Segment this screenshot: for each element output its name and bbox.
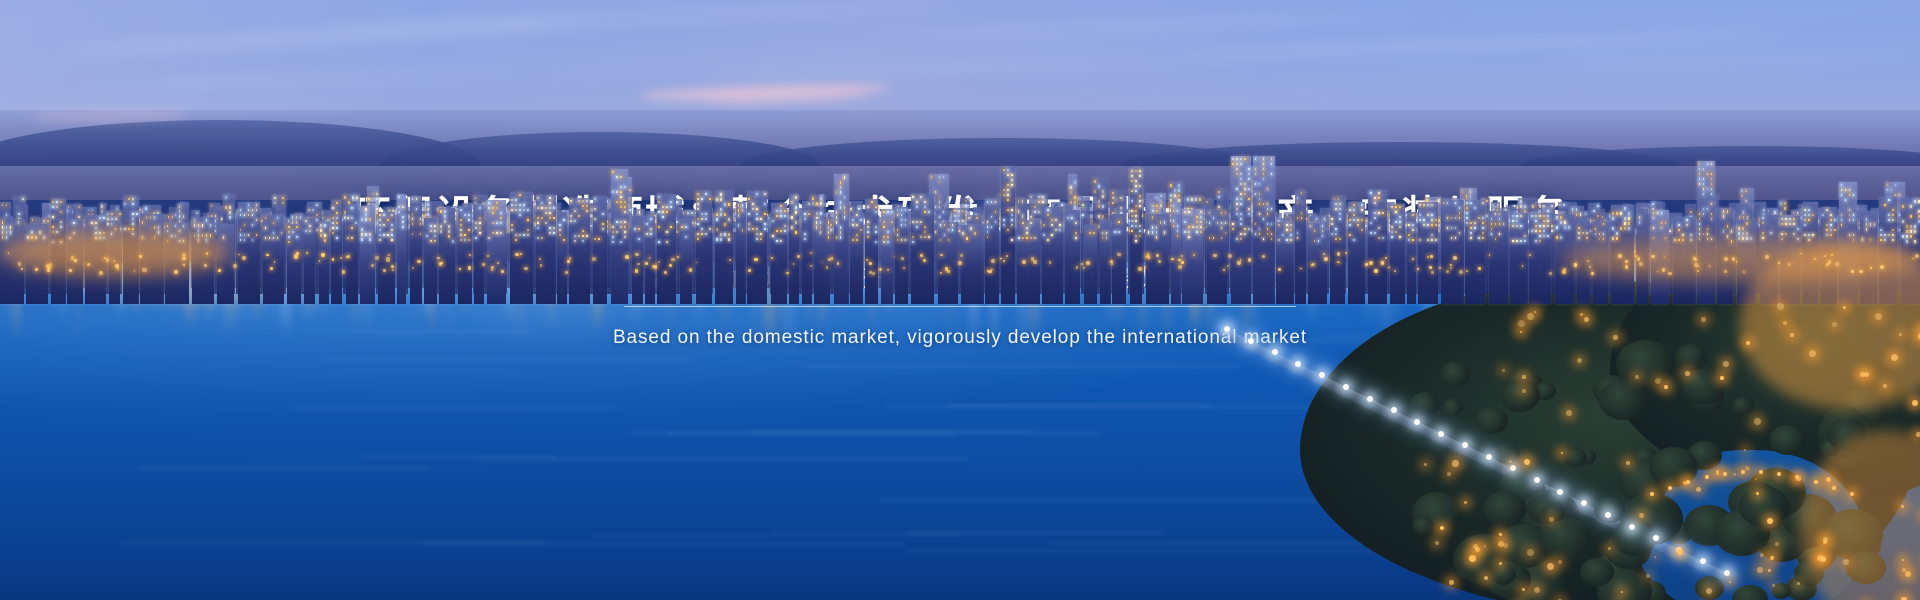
building-window — [320, 234, 322, 236]
building-window — [1102, 195, 1104, 197]
building-window — [124, 228, 126, 230]
building-window — [256, 234, 258, 236]
building-window — [1482, 217, 1484, 219]
building-window — [1770, 232, 1772, 234]
building-window — [1470, 227, 1472, 229]
building-window — [1335, 233, 1337, 235]
building-window — [1910, 230, 1912, 232]
building-window — [578, 200, 580, 202]
building-window — [1255, 173, 1257, 175]
building-window — [541, 217, 543, 219]
building — [715, 191, 734, 304]
building-window — [716, 218, 718, 220]
building-window — [578, 235, 580, 237]
building-window — [1003, 194, 1005, 196]
building-window — [1089, 232, 1091, 234]
building-window — [940, 239, 942, 241]
shoreline-light — [1081, 263, 1083, 265]
building-window — [1599, 233, 1601, 235]
building-window — [183, 225, 185, 227]
building-window — [56, 231, 58, 233]
building-window — [1808, 239, 1810, 241]
building-window — [379, 224, 381, 226]
building-window — [332, 227, 334, 229]
shoreline-light — [1651, 255, 1655, 259]
building-window — [52, 201, 54, 203]
building-window — [464, 234, 466, 236]
building — [1017, 220, 1041, 304]
building-window — [1003, 169, 1005, 171]
tree-canopy — [1483, 491, 1526, 526]
building-window — [1661, 212, 1663, 214]
building-window — [697, 218, 699, 220]
promenade-lamp — [1462, 442, 1468, 448]
building-window — [511, 209, 513, 211]
building-window — [1895, 184, 1897, 186]
building-window — [1156, 205, 1158, 207]
building-window — [1156, 210, 1158, 212]
building-window — [1699, 168, 1701, 170]
building-window — [1543, 225, 1545, 227]
building-window — [820, 202, 822, 204]
building-window — [1880, 234, 1882, 236]
building-window — [1131, 225, 1133, 227]
park-light — [1864, 372, 1869, 377]
building-window — [875, 231, 877, 233]
building-window — [553, 207, 555, 209]
building-window — [1560, 236, 1562, 238]
building-window — [905, 224, 907, 226]
building-window — [1353, 204, 1355, 206]
building-window — [1466, 195, 1468, 197]
park-light — [1522, 588, 1525, 591]
building-window — [1547, 220, 1549, 222]
building-window — [1156, 226, 1158, 228]
building-window — [511, 199, 513, 201]
building-window — [324, 239, 326, 241]
building — [287, 224, 302, 304]
building-window — [1412, 224, 1414, 226]
building-window — [1286, 239, 1288, 241]
building — [611, 169, 629, 304]
building-window — [1520, 240, 1522, 242]
building-window — [1334, 198, 1336, 200]
building-window — [1074, 181, 1076, 183]
building-window — [991, 226, 993, 228]
building — [1084, 225, 1097, 304]
park-light — [1706, 588, 1712, 594]
building-window — [47, 220, 49, 222]
building-window — [1535, 225, 1537, 227]
building-window — [1408, 239, 1410, 241]
building-window — [804, 218, 806, 220]
building-window — [1196, 221, 1198, 223]
building — [1171, 203, 1181, 304]
building-window — [1797, 238, 1799, 240]
building-window — [39, 231, 41, 233]
building-window — [1353, 209, 1355, 211]
building-window — [1699, 183, 1701, 185]
building-window — [1845, 189, 1847, 191]
park-light — [1440, 526, 1444, 530]
building-window — [1120, 207, 1122, 209]
building-window — [1880, 239, 1882, 241]
building-window — [196, 212, 198, 214]
building-window — [1539, 235, 1541, 237]
building-window — [1808, 214, 1810, 216]
building-window — [1576, 213, 1578, 215]
building-window — [1447, 217, 1449, 219]
building-window — [816, 221, 818, 223]
building-window — [460, 234, 462, 236]
building-window — [1841, 214, 1843, 216]
building-window — [820, 221, 822, 223]
shoreline-light — [625, 255, 629, 259]
tree-canopy — [1580, 558, 1614, 586]
building-window — [844, 216, 846, 218]
building-window — [738, 209, 740, 211]
park-light — [1777, 303, 1784, 310]
building-window — [202, 234, 204, 236]
building-window — [804, 238, 806, 240]
building-window — [697, 223, 699, 225]
building-window — [705, 233, 707, 235]
shoreline-light — [1156, 254, 1159, 257]
building-window — [1196, 231, 1198, 233]
building-window — [1007, 229, 1009, 231]
building-window — [1699, 223, 1701, 225]
building — [1510, 213, 1528, 305]
building-window — [791, 216, 793, 218]
building-window — [887, 241, 889, 243]
wave-hint — [948, 405, 1211, 407]
building-window — [1711, 183, 1713, 185]
building-window — [1349, 234, 1351, 236]
building-window — [1582, 232, 1584, 234]
building-window — [365, 218, 367, 220]
building-window — [697, 193, 699, 195]
building-window — [444, 210, 446, 212]
building-window — [1887, 184, 1889, 186]
building-window — [154, 216, 156, 218]
building — [474, 205, 484, 304]
building-window — [738, 214, 740, 216]
building — [263, 215, 284, 304]
building-window — [574, 210, 576, 212]
building-window — [828, 236, 830, 238]
building-window — [1135, 205, 1137, 207]
building-window — [1466, 222, 1468, 224]
building-window — [448, 235, 450, 237]
building-window — [948, 239, 950, 241]
building-window — [1826, 209, 1828, 211]
building-window — [460, 239, 462, 241]
building-window — [901, 219, 903, 221]
building-window — [1070, 186, 1072, 188]
shoreline-light — [1625, 265, 1629, 269]
shoreline-light — [1635, 255, 1637, 257]
building-window — [1374, 232, 1376, 234]
building-window — [578, 215, 580, 217]
building-window — [1026, 227, 1028, 229]
building-window — [856, 239, 858, 241]
building — [569, 198, 590, 304]
shoreline-light — [940, 254, 942, 256]
building-window — [1892, 214, 1894, 216]
building-window — [1106, 232, 1108, 234]
building-window — [361, 238, 363, 240]
building-window — [1225, 222, 1227, 224]
building-window — [891, 221, 893, 223]
building-window — [365, 208, 367, 210]
building-window — [101, 210, 103, 212]
building-window — [206, 219, 208, 221]
building-window — [368, 203, 370, 205]
building-window — [1620, 212, 1622, 214]
building-window — [475, 237, 477, 239]
park-light — [1723, 361, 1729, 367]
building-window — [1612, 237, 1614, 239]
building-window — [167, 225, 169, 227]
building-window — [1711, 203, 1713, 205]
building-window — [537, 207, 539, 209]
building-window — [60, 226, 62, 228]
building-window — [1236, 158, 1238, 160]
building-window — [1200, 211, 1202, 213]
building-window — [1240, 223, 1242, 225]
building-window — [780, 240, 782, 242]
building-window — [1884, 204, 1886, 206]
building-window — [795, 206, 797, 208]
building-window — [1586, 237, 1588, 239]
building-window — [175, 235, 177, 237]
building-window — [1188, 236, 1190, 238]
building-window — [987, 201, 989, 203]
building — [1673, 217, 1696, 304]
building-window — [1703, 193, 1705, 195]
building-window — [248, 209, 250, 211]
building-window — [1906, 225, 1908, 227]
building-window — [1723, 230, 1725, 232]
shoreline-light — [1639, 262, 1643, 266]
building-window — [883, 241, 885, 243]
park-light — [1424, 463, 1427, 466]
shoreline-light — [1300, 268, 1302, 270]
building-window — [1586, 232, 1588, 234]
building-window — [1011, 179, 1013, 181]
building-window — [650, 228, 652, 230]
building-window — [620, 201, 622, 203]
building-window — [629, 209, 631, 211]
building-window — [901, 239, 903, 241]
building-window — [582, 205, 584, 207]
building-window — [351, 227, 353, 229]
building-window — [1114, 231, 1116, 233]
building-window — [697, 233, 699, 235]
tree-canopy — [1594, 497, 1625, 523]
park-light — [1549, 517, 1554, 522]
building-window — [1135, 240, 1137, 242]
building-window — [305, 220, 307, 222]
building-window — [1580, 213, 1582, 215]
building-window — [1361, 219, 1363, 221]
building-window — [336, 212, 338, 214]
footbridge-light — [1741, 470, 1745, 474]
building-window — [1699, 233, 1701, 235]
building-window — [697, 208, 699, 210]
building-window — [1297, 197, 1299, 199]
shoreline-light — [74, 259, 77, 262]
building — [304, 218, 316, 304]
shoreline-light — [1181, 261, 1183, 263]
building — [439, 208, 455, 304]
building-window — [602, 213, 604, 215]
building-window — [332, 217, 334, 219]
promenade-lamp — [1414, 419, 1420, 425]
building-window — [1338, 198, 1340, 200]
building-window — [616, 176, 618, 178]
building-window — [812, 197, 814, 199]
building-window — [1160, 205, 1162, 207]
building-window — [475, 197, 477, 199]
building-window — [1236, 173, 1238, 175]
building-window — [1263, 158, 1265, 160]
building-window — [970, 227, 972, 229]
building-window — [795, 221, 797, 223]
building-window — [1318, 240, 1320, 242]
building-window — [756, 208, 758, 210]
footbridge-light — [1832, 486, 1836, 490]
building-window — [935, 221, 937, 223]
building-window — [1331, 218, 1333, 220]
building-window — [752, 203, 754, 205]
building-window — [1653, 237, 1655, 239]
building-window — [965, 200, 967, 202]
building-window — [1431, 204, 1433, 206]
building-window — [1516, 240, 1518, 242]
building-window — [1595, 233, 1597, 235]
building-window — [10, 226, 12, 228]
building-window — [691, 212, 693, 214]
building-window — [1499, 218, 1501, 220]
building-window — [1482, 232, 1484, 234]
building — [1348, 202, 1365, 304]
building-window — [1074, 206, 1076, 208]
building-window — [905, 219, 907, 221]
building-window — [1914, 225, 1916, 227]
park-light — [1809, 350, 1816, 357]
wave-hint — [290, 407, 615, 409]
building-window — [646, 223, 648, 225]
building-window — [1746, 237, 1748, 239]
building-window — [347, 217, 349, 219]
building-window — [1914, 240, 1916, 242]
building-window — [1324, 218, 1326, 220]
building-window — [1206, 201, 1208, 203]
shoreline-light — [1147, 255, 1150, 258]
building-window — [1051, 219, 1053, 221]
building-window — [764, 213, 766, 215]
building-window — [256, 204, 258, 206]
shoreline-light — [1248, 258, 1251, 261]
building-window — [1535, 220, 1537, 222]
building-window — [760, 218, 762, 220]
building-window — [545, 212, 547, 214]
building-window — [943, 211, 945, 213]
building-window — [215, 220, 217, 222]
building-window — [1255, 183, 1257, 185]
tree-canopy — [1500, 379, 1540, 412]
building-window — [1139, 170, 1141, 172]
building-window — [748, 223, 750, 225]
building-window — [1152, 231, 1154, 233]
building-window — [1834, 219, 1836, 221]
building-window — [1051, 234, 1053, 236]
building — [1065, 210, 1079, 304]
building — [747, 191, 767, 304]
building-window — [387, 219, 389, 221]
building-window — [1322, 225, 1324, 227]
building — [696, 191, 713, 304]
building-window — [1007, 174, 1009, 176]
building-window — [1192, 226, 1194, 228]
building-window — [128, 198, 130, 200]
building-window — [179, 215, 181, 217]
building-window — [1482, 222, 1484, 224]
building-window — [1793, 223, 1795, 225]
building-window — [1539, 225, 1541, 227]
building-window — [372, 203, 374, 205]
building-window — [1686, 224, 1688, 226]
building-window — [1195, 198, 1197, 200]
building-window — [1711, 163, 1713, 165]
building-window — [252, 209, 254, 211]
building-window — [48, 215, 50, 217]
building-window — [256, 219, 258, 221]
building-window — [1699, 228, 1701, 230]
building-window — [1520, 215, 1522, 217]
building-window — [1007, 184, 1009, 186]
building-window — [924, 206, 926, 208]
building-window — [1378, 192, 1380, 194]
building-window — [1112, 202, 1114, 204]
building-window — [709, 228, 711, 230]
building-window — [1026, 232, 1028, 234]
building-window — [99, 217, 101, 219]
building-window — [1427, 239, 1429, 241]
building-window — [430, 225, 432, 227]
building-window — [784, 210, 786, 212]
building-window — [716, 228, 718, 230]
building-window — [620, 191, 622, 193]
building-window — [720, 193, 722, 195]
building-window — [1826, 229, 1828, 231]
building-window — [344, 196, 346, 198]
building-window — [1370, 222, 1372, 224]
building-window — [1248, 173, 1250, 175]
building-window — [624, 231, 626, 233]
building-window — [1419, 239, 1421, 241]
building-window — [269, 237, 271, 239]
building-window — [935, 206, 937, 208]
building-window — [150, 216, 152, 218]
building-window — [586, 235, 588, 237]
building-window — [10, 231, 12, 233]
building-window — [1236, 188, 1238, 190]
tree-canopy — [1564, 448, 1587, 467]
building-window — [1703, 213, 1705, 215]
shoreline-light — [1851, 270, 1854, 273]
